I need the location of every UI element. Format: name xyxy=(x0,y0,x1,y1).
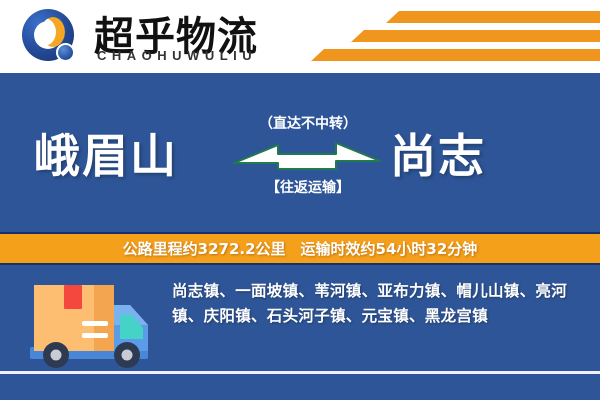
double-headed-arrow-icon xyxy=(232,139,382,171)
chaohu-logistics-logo-icon xyxy=(22,9,78,65)
logistics-route-banner: 超乎物流 CHAOHUWULIU 峨眉山 （直达不中转） 【往返运输】 尚志 公… xyxy=(0,0,600,400)
logo-crescent-shape xyxy=(41,17,65,47)
distance-and-duration-text: 公路里程约3272.2公里 运输时效约54小时32分钟 xyxy=(123,238,478,259)
roundtrip-note: 【往返运输】 xyxy=(238,177,378,197)
delivery-truck-icon xyxy=(26,277,158,377)
origin-city: 峨眉山 xyxy=(34,120,178,186)
stripe-bottom xyxy=(310,49,600,62)
header-stripes-decoration xyxy=(300,8,600,68)
stripe-top xyxy=(385,11,600,24)
stripe-middle xyxy=(350,30,600,43)
banner-header: 超乎物流 CHAOHUWULIU xyxy=(0,0,600,73)
coverage-section: 尚志镇、一面坡镇、苇河镇、亚布力镇、帽儿山镇、亮河镇、庆阳镇、石头河子镇、元宝镇… xyxy=(0,265,600,400)
footer-divider xyxy=(0,371,600,374)
destination-city: 尚志 xyxy=(390,120,486,186)
logo-dot-shape xyxy=(56,43,75,62)
route-info-bar: 公路里程约3272.2公里 运输时效约54小时32分钟 xyxy=(0,232,600,265)
route-middle-group: （直达不中转） 【往返运输】 xyxy=(238,73,378,232)
brand-name-pinyin: CHAOHUWULIU xyxy=(97,48,257,63)
route-section: 峨眉山 （直达不中转） 【往返运输】 尚志 xyxy=(0,73,600,232)
covered-towns-list: 尚志镇、一面坡镇、苇河镇、亚布力镇、帽儿山镇、亮河镇、庆阳镇、石头河子镇、元宝镇… xyxy=(172,279,582,329)
direct-service-note: （直达不中转） xyxy=(238,113,378,133)
